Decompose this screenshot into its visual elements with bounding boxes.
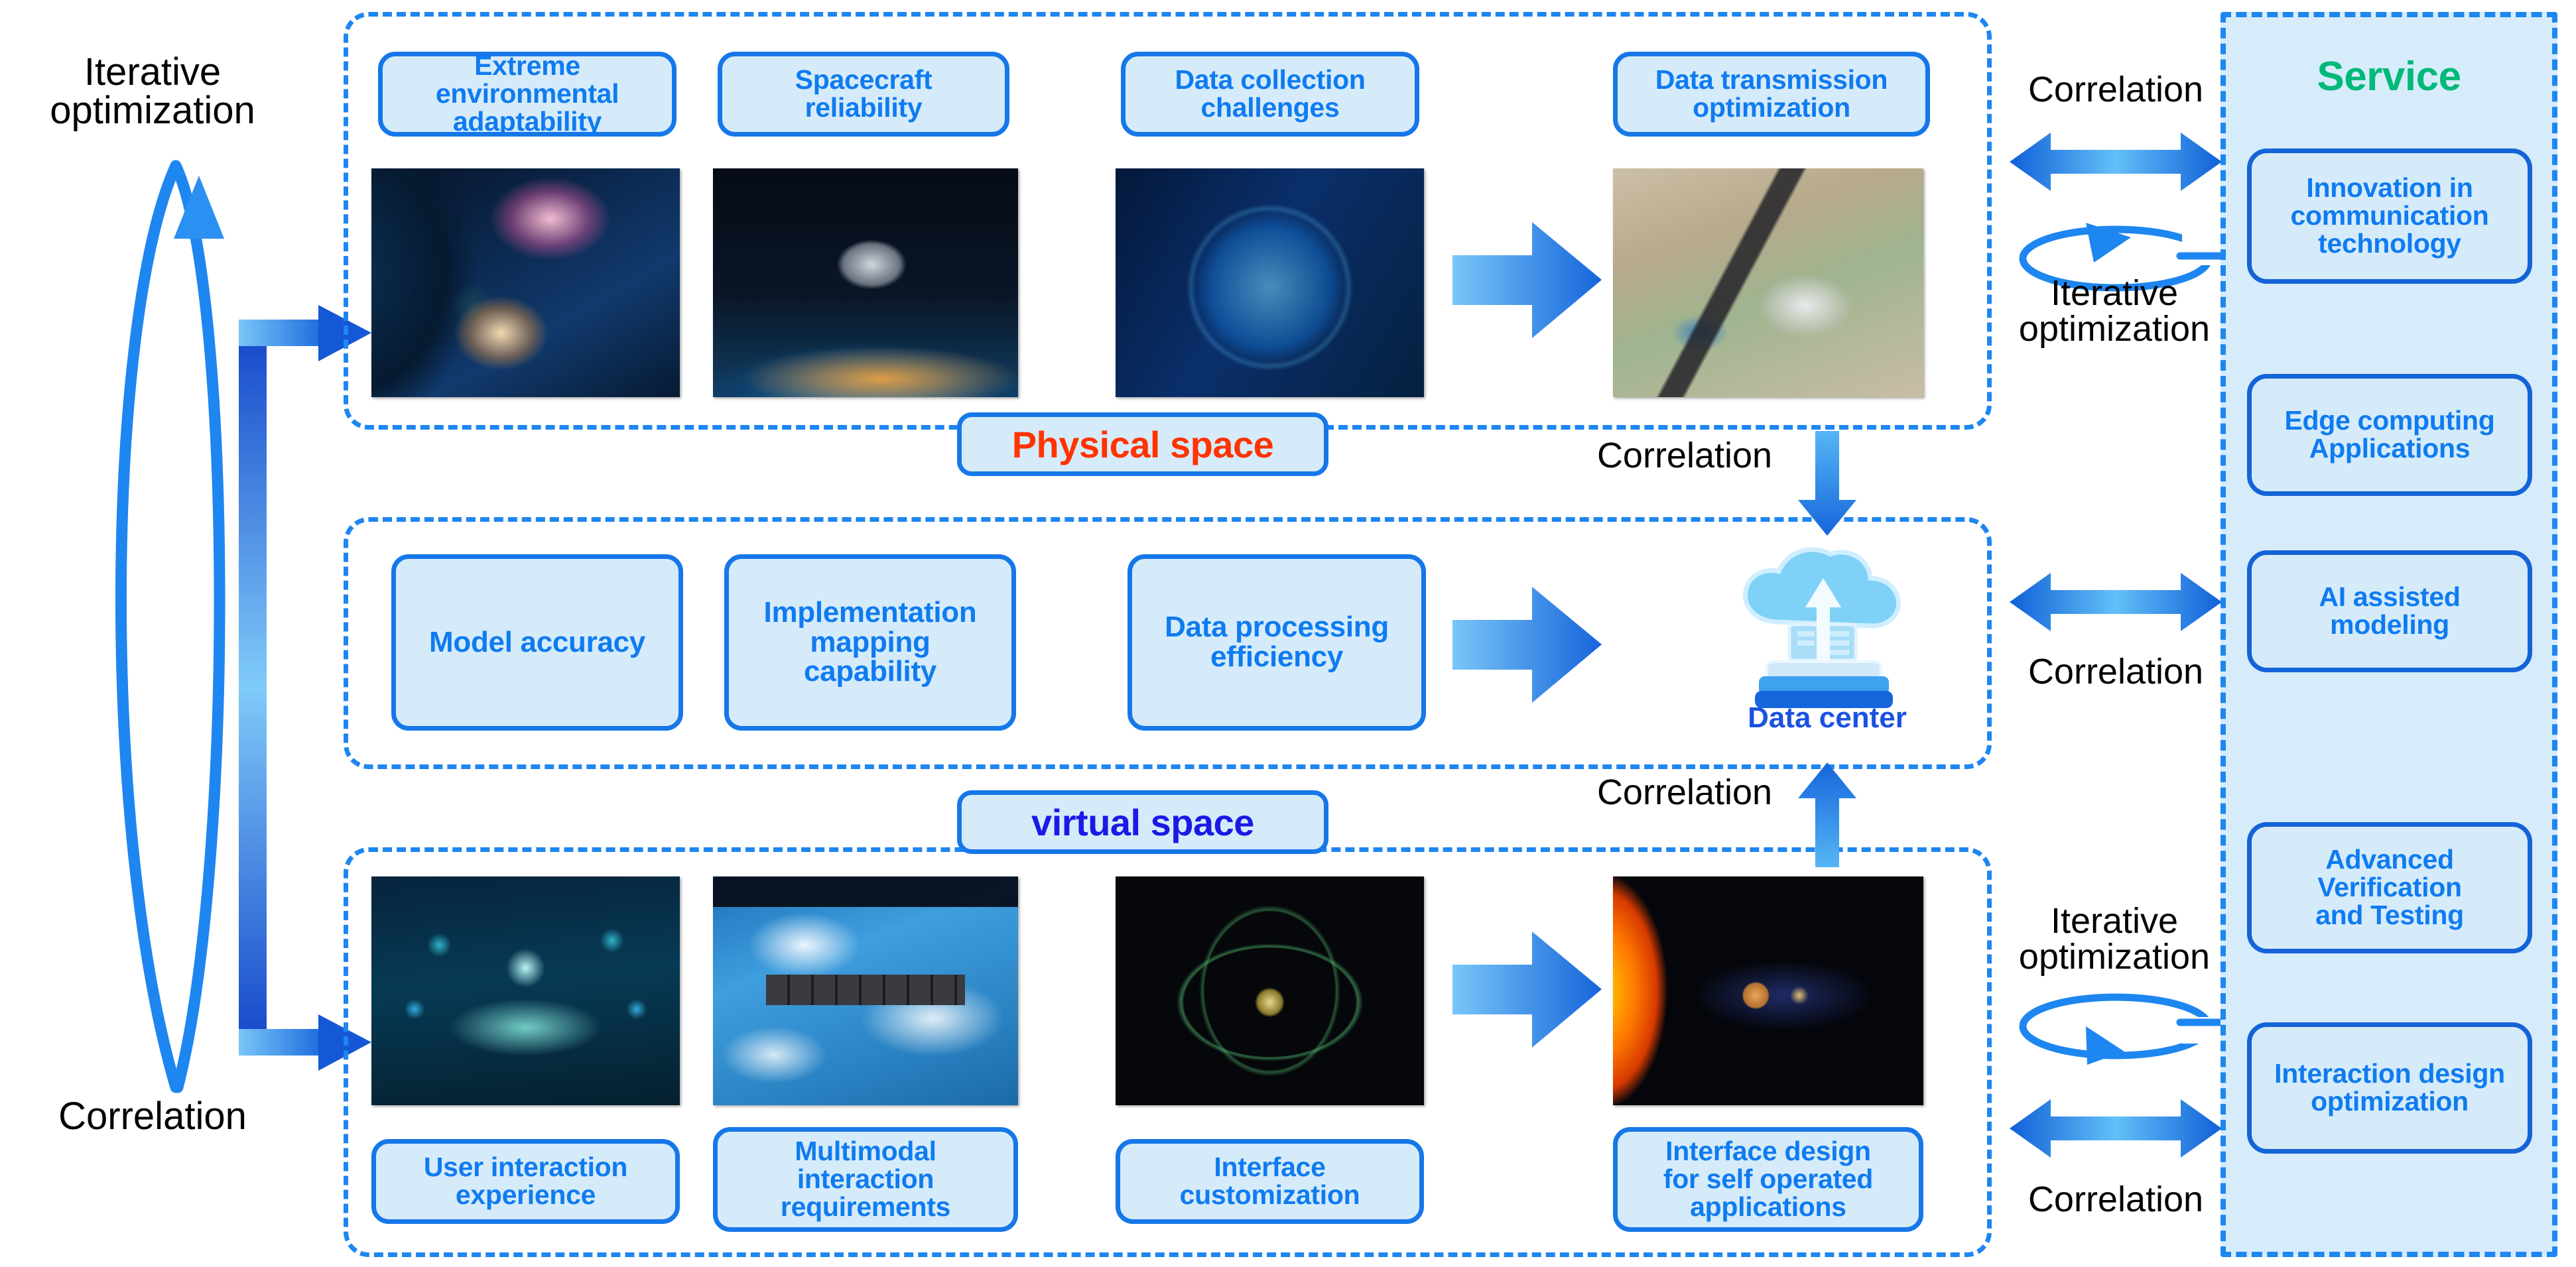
orbital-tracking-photo [1116,876,1424,1105]
connector-bottom-iterative-label: Iterative optimization [2002,903,2227,975]
connector-mid-upper-arrow-icon [1794,431,1874,537]
connector-mid-right-correlation-label: Correlation [2003,654,2228,690]
physical-card-2-label[interactable]: Spacecraft reliability [718,52,1009,137]
connector-bottom-correlation-label: Correlation [2003,1181,2228,1217]
holographic-ui-photo [371,876,680,1105]
service-item-5[interactable]: Interaction design optimization [2247,1022,2532,1154]
satellite-over-earth-photo [713,168,1018,397]
diagram-canvas: Iterative optimization Correlation Extre… [0,0,2576,1267]
virtual-card-1-label[interactable]: User interaction experience [371,1139,680,1224]
physical-card-4-label[interactable]: Data transmission optimization [1613,52,1930,137]
physical-card-3-label[interactable]: Data collection challenges [1121,52,1419,137]
virtual-metrics-flow-arrow-icon [1452,583,1612,709]
connector-top-iterative-label: Iterative optimization [2002,275,2227,347]
galaxy-nebula-photo [371,168,680,397]
data-center-caption: Data center [1698,701,1957,735]
left-iteration-loop-icon [121,166,224,1087]
service-item-4[interactable]: Advanced Verification and Testing [2247,822,2532,953]
left-label-iterative-optimization: Iterative optimization [0,53,305,130]
virtual-metric-card-1-label[interactable]: Model accuracy [391,554,683,731]
virtual-flow-arrow-icon [1452,928,1612,1054]
connector-top-correlation-label: Correlation [2003,72,2228,107]
virtual-metric-card-3-label[interactable]: Data processing efficiency [1127,554,1426,731]
service-item-1[interactable]: Innovation in communication technology [2247,149,2532,284]
virtual-card-2-label[interactable]: Multimodal interaction requirements [713,1127,1018,1232]
virtual-space-tag-label: virtual space [1031,801,1254,844]
virtual-space-tag: virtual space [957,790,1328,854]
blue-globe-network-photo [1116,168,1424,397]
connector-bottom-correlation-arrow-icon [2010,1087,2222,1174]
satellite-over-terrain-photo [1613,168,1923,397]
virtual-metric-card-2-label[interactable]: Implementation mapping capability [724,554,1016,731]
connector-bottom-iteration-loop-icon [2013,988,2219,1074]
connector-mid-lower-arrow-icon [1794,762,1874,869]
physical-card-1-label[interactable]: Extreme environmental adaptability [378,52,676,137]
virtual-card-3-label[interactable]: Interface customization [1116,1139,1424,1224]
service-title: Service [2221,53,2557,100]
connector-mid-lower-correlation-label: Correlation [1545,774,1824,810]
connector-mid-upper-correlation-label: Correlation [1545,438,1824,473]
physical-space-tag-label: Physical space [1012,423,1274,466]
cloud-server-icon [1718,537,1937,716]
virtual-card-4-label[interactable]: Interface design for self operated appli… [1613,1127,1923,1232]
connector-top-correlation-arrow-icon [2010,121,2222,207]
left-label-correlation: Correlation [0,1097,305,1136]
solar-system-photo [1613,876,1923,1105]
connector-mid-right-arrow-icon [2010,561,2222,647]
service-item-3[interactable]: AI assisted modeling [2247,550,2532,672]
service-item-2[interactable]: Edge computing Applications [2247,374,2532,496]
physical-space-tag: Physical space [957,412,1328,476]
satellite-over-clouds-photo [713,876,1018,1105]
physical-flow-arrow-icon [1452,219,1612,345]
